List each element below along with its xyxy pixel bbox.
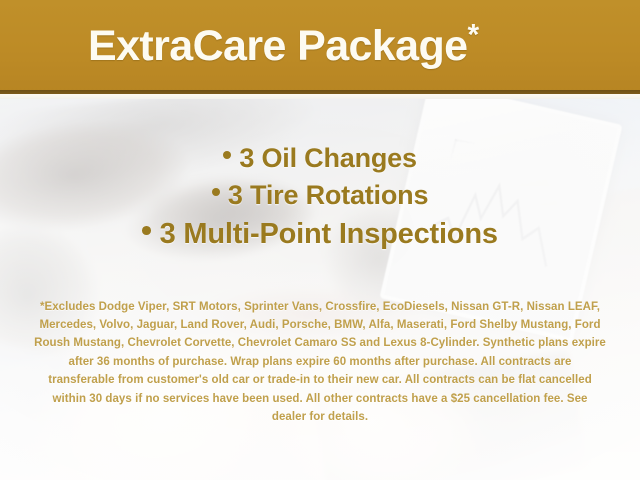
benefits-list: 3 Oil Changes 3 Tire Rotations 3 Multi-P… <box>0 140 640 254</box>
list-item: 3 Oil Changes <box>0 140 640 177</box>
benefit-label: 3 Tire Rotations <box>228 180 428 210</box>
bullet-dot-icon <box>212 188 220 196</box>
benefit-label: 3 Multi-Point Inspections <box>160 218 498 250</box>
header-sheen-divider <box>0 94 640 99</box>
benefit-label: 3 Oil Changes <box>239 143 416 173</box>
extracare-package-promo-card: ExtraCare Package* 3 Oil Changes 3 Tire … <box>0 0 640 480</box>
page-title-text: ExtraCare Package <box>88 22 467 70</box>
list-item: 3 Tire Rotations <box>0 177 640 214</box>
bullet-dot-icon <box>223 151 231 159</box>
page-title-asterisk: * <box>467 18 478 51</box>
page-title: ExtraCare Package* <box>0 25 479 68</box>
list-item: 3 Multi-Point Inspections <box>0 214 640 254</box>
bullet-dot-icon <box>142 226 151 235</box>
disclaimer-text: *Excludes Dodge Viper, SRT Motors, Sprin… <box>34 298 606 427</box>
header-band: ExtraCare Package* <box>0 0 640 92</box>
